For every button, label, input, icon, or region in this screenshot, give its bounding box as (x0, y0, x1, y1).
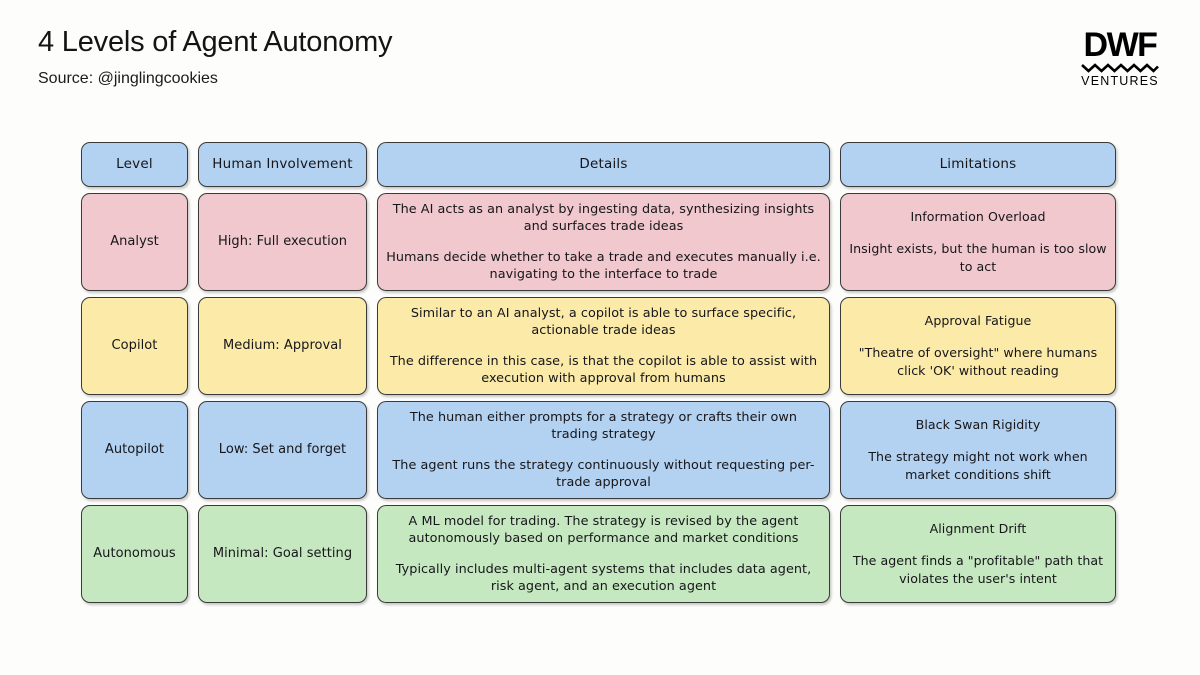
cell-level: Autonomous (81, 505, 188, 603)
table-row: Autonomous Minimal: Goal setting A ML mo… (81, 505, 1114, 603)
cell-details: Similar to an AI analyst, a copilot is a… (377, 297, 830, 395)
cell-human-involvement: Low: Set and forget (198, 401, 367, 499)
page-source: Source: @jinglingcookies (38, 70, 392, 88)
details-paragraph: The AI acts as an analyst by ingesting d… (386, 201, 821, 236)
column-header-human-involvement: Human Involvement (198, 142, 367, 187)
level-label: Autopilot (105, 441, 164, 459)
details-paragraph: Humans decide whether to take a trade an… (386, 249, 821, 284)
table-row: Copilot Medium: Approval Similar to an A… (81, 297, 1114, 395)
cell-human-involvement: Medium: Approval (198, 297, 367, 395)
level-label: Autonomous (93, 545, 176, 563)
cell-limitations: Approval Fatigue "Theatre of oversight" … (840, 297, 1116, 395)
limitation-title: Information Overload (910, 208, 1045, 226)
page-header: 4 Levels of Agent Autonomy Source: @jing… (38, 26, 1162, 106)
details-paragraph: The human either prompts for a strategy … (386, 409, 821, 444)
limitation-title: Approval Fatigue (925, 312, 1032, 330)
details-paragraph: A ML model for trading. The strategy is … (386, 513, 821, 548)
dwf-ventures-logo: DWF VENTURES (1078, 29, 1162, 88)
column-header-limitations: Limitations (840, 142, 1116, 187)
human-involvement-label: Medium: Approval (223, 337, 342, 355)
limitation-body: Insight exists, but the human is too slo… (849, 240, 1107, 276)
cell-details: The human either prompts for a strategy … (377, 401, 830, 499)
column-header-label: Limitations (940, 155, 1017, 174)
cell-human-involvement: Minimal: Goal setting (198, 505, 367, 603)
cell-level: Autopilot (81, 401, 188, 499)
cell-level: Copilot (81, 297, 188, 395)
limitation-body: The strategy might not work when market … (849, 448, 1107, 484)
title-block: 4 Levels of Agent Autonomy Source: @jing… (38, 26, 392, 88)
cell-level: Analyst (81, 193, 188, 291)
table-row: Autopilot Low: Set and forget The human … (81, 401, 1114, 499)
column-header-level: Level (81, 142, 188, 187)
details-paragraph: Similar to an AI analyst, a copilot is a… (386, 305, 821, 340)
limitation-body: "Theatre of oversight" where humans clic… (849, 344, 1107, 380)
cell-details: A ML model for trading. The strategy is … (377, 505, 830, 603)
cell-limitations: Alignment Drift The agent finds a "profi… (840, 505, 1116, 603)
human-involvement-label: Low: Set and forget (219, 441, 346, 459)
level-label: Copilot (112, 337, 158, 355)
details-paragraph: The agent runs the strategy continuously… (386, 457, 821, 492)
column-header-details: Details (377, 142, 830, 187)
cell-limitations: Black Swan Rigidity The strategy might n… (840, 401, 1116, 499)
table-row: Analyst High: Full execution The AI acts… (81, 193, 1114, 291)
logo-wordmark: DWF (1078, 29, 1162, 61)
column-header-label: Level (116, 155, 153, 174)
page-title: 4 Levels of Agent Autonomy (38, 26, 392, 59)
autonomy-matrix: Level Human Involvement Details Limitati… (81, 142, 1114, 609)
details-paragraph: The difference in this case, is that the… (386, 353, 821, 388)
limitation-title: Black Swan Rigidity (916, 416, 1041, 434)
logo-subtext: VENTURES (1078, 74, 1162, 88)
column-header-label: Human Involvement (212, 155, 353, 174)
limitation-title: Alignment Drift (930, 520, 1027, 538)
cell-human-involvement: High: Full execution (198, 193, 367, 291)
details-paragraph: Typically includes multi-agent systems t… (386, 561, 821, 596)
column-header-label: Details (579, 155, 627, 174)
human-involvement-label: Minimal: Goal setting (213, 545, 352, 563)
table-header-row: Level Human Involvement Details Limitati… (81, 142, 1114, 187)
level-label: Analyst (110, 233, 159, 251)
limitation-body: The agent finds a "profitable" path that… (849, 552, 1107, 588)
cell-limitations: Information Overload Insight exists, but… (840, 193, 1116, 291)
cell-details: The AI acts as an analyst by ingesting d… (377, 193, 830, 291)
human-involvement-label: High: Full execution (218, 233, 347, 251)
